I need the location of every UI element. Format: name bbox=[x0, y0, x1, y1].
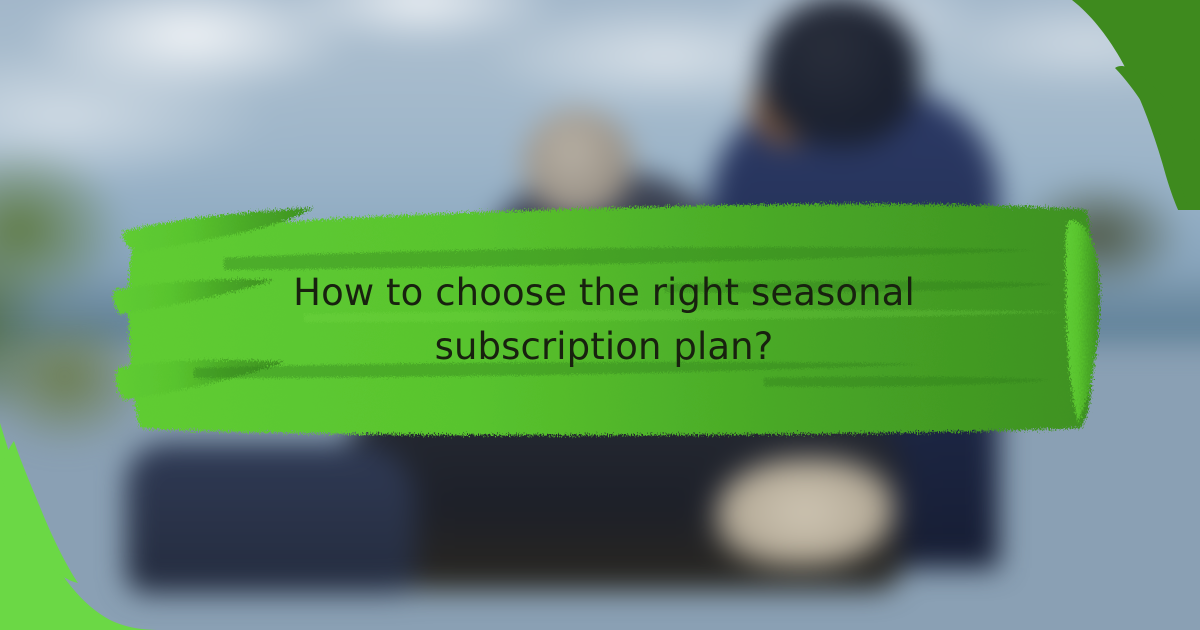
cloth-highlight bbox=[715, 457, 895, 567]
headline-line-2: subscription plan? bbox=[435, 320, 774, 374]
jeans-silhouette bbox=[126, 443, 416, 593]
headline-line-1: How to choose the right seasonal bbox=[293, 266, 915, 320]
page-title: How to choose the right seasonal subscri… bbox=[104, 192, 1104, 447]
person-primary-head bbox=[760, 0, 920, 146]
social-share-banner: How to choose the right seasonal subscri… bbox=[0, 0, 1200, 630]
